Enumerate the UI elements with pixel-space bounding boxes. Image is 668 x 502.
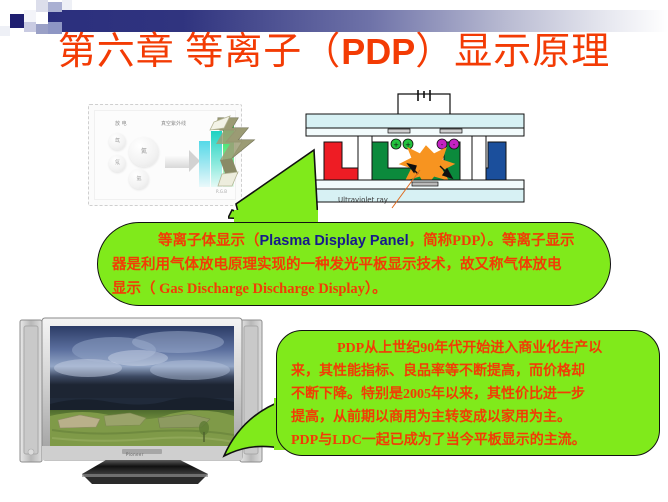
title-part-2: ）显示原理 — [415, 31, 610, 73]
gas-bubble: 氩 — [129, 169, 149, 189]
front-glass — [306, 114, 524, 128]
title-part-1: 第六章 等离子（ — [58, 31, 342, 73]
callout-line: 器是利用气体放电原理实现的一种发光平板显示技术，故又称气体放电 — [112, 253, 598, 277]
display-electrode — [388, 129, 410, 133]
svg-text:+: + — [393, 141, 399, 149]
tv-brand-label: Pioneer — [126, 452, 144, 457]
battery-icon — [418, 90, 430, 101]
display-electrode — [440, 129, 462, 133]
deco-square — [62, 0, 72, 10]
blue-phosphor — [486, 142, 506, 180]
callout-segment: 等离子体显示（ — [158, 233, 260, 249]
gas-bubble: 氦 — [129, 137, 159, 167]
callout-1-text: 等离子体显示（Plasma Display Panel，简称PDP）。等离子显示… — [112, 229, 598, 301]
deco-square — [36, 12, 48, 24]
deco-square — [48, 2, 62, 12]
gas-bubble: 氙 — [109, 133, 126, 150]
dielectric-layer — [306, 128, 524, 136]
slide-canvas: 第六章 等离子（PDP）显示原理 放 电 真空紫外线 氙 氖 氦 氩 R.G.B — [0, 0, 668, 502]
chart-label-left: 放 电 — [115, 120, 127, 127]
callout-segment: ，简称PDP）。等离子显示 — [409, 233, 575, 249]
gas-bubble: 氖 — [109, 155, 126, 172]
callout-2-text: PDP从上世纪90年代开始进入商业化生产以来，其性能指标、良品率等不断提高，而价… — [291, 337, 649, 452]
slide-title: 第六章 等离子（PDP）显示原理 — [0, 26, 668, 78]
tv-stand-neck — [82, 460, 208, 474]
callout-line: 显示（ Gas Discharge Discharge Display）。 — [112, 277, 598, 301]
positive-ions: + + — [391, 139, 413, 149]
barrier-rib — [358, 136, 372, 180]
callout-segment: 器是利用气体放电原理实现的一种发光平板显示技术，故又称气体放电 — [112, 257, 562, 273]
title-pdp: PDP — [341, 31, 415, 72]
callout-line: PDP从上世纪90年代开始进入商业化生产以 — [291, 337, 649, 360]
red-phosphor — [324, 142, 358, 180]
callout-segment: PDP从上世纪90年代开始进入商业化生产以 — [337, 341, 602, 356]
barrier-rib — [472, 136, 486, 180]
callout-line: PDP与LDC一起已成为了当今平板显示的主流。 — [291, 429, 649, 452]
chart-label-right: 真空紫外线 — [161, 120, 186, 127]
callout-definition: 等离子体显示（Plasma Display Panel，简称PDP）。等离子显示… — [97, 222, 611, 306]
deco-square — [36, 0, 48, 12]
callout-segment: Plasma Display Panel — [260, 233, 409, 249]
callout-segment: 提高，从前期以商用为主转变成以家用为主。 — [291, 410, 571, 425]
callout-line: 提高，从前期以商用为主转变成以家用为主。 — [291, 406, 649, 429]
callout-line: 不断下降。特别是2005年以来，其性价比进一步 — [291, 383, 649, 406]
deco-square — [24, 10, 36, 22]
callout-segment: 不断下降。特别是2005年以来，其性价比进一步 — [291, 387, 585, 402]
callout-1-tail — [228, 148, 318, 228]
process-arrow-icon — [165, 155, 191, 168]
callout-line: 来，其性能指标、良品率等不断提高，而价格却 — [291, 360, 649, 383]
callout-segment: 显示（ Gas Discharge Discharge Display）。 — [112, 281, 387, 297]
callout-segment: PDP与LDC一起已成为了当今平板显示的主流。 — [291, 433, 586, 448]
callout-line: 等离子体显示（Plasma Display Panel，简称PDP）。等离子显示 — [112, 229, 598, 253]
plasma-cell-diagram: + + - - — [300, 90, 530, 218]
address-electrode — [412, 182, 438, 186]
callout-market-history: PDP从上世纪90年代开始进入商业化生产以来，其性能指标、良品率等不断提高，而价… — [276, 330, 660, 456]
uv-ray-label: Ultraviolet ray — [338, 196, 388, 204]
callout-segment: 来，其性能指标、良品率等不断提高，而价格却 — [291, 364, 585, 379]
